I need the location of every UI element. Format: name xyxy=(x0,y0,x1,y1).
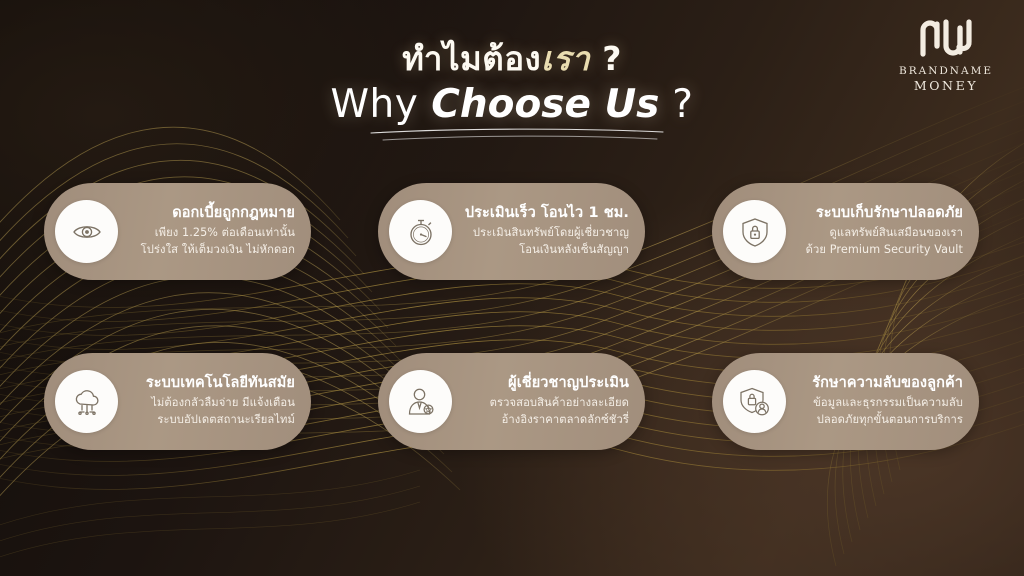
feature-card[interactable]: ประเมินเร็ว โอนไว 1 ชม. ประเมินสินทรัพย์… xyxy=(378,183,645,280)
feature-card[interactable]: ระบบเทคโนโลยีทันสมัย ไม่ต้องกลัวลืมจ่าย … xyxy=(44,353,311,450)
feature-card[interactable]: ดอกเบี้ยถูกกฎหมาย เพียง 1.25% ต่อเดือนเท… xyxy=(44,183,311,280)
heading-english: Why Choose Us ? xyxy=(331,82,694,129)
card-line: ตรวจสอบสินค้าอย่างละเอียด xyxy=(459,394,629,411)
heading-thai-suffix: ? xyxy=(590,39,622,78)
card-title: ผู้เชี่ยวชาญประเมิน xyxy=(459,374,629,394)
card-line: เพียง 1.25% ต่อเดือนเท่านั้น xyxy=(125,224,295,241)
feature-card[interactable]: ผู้เชี่ยวชาญประเมิน ตรวจสอบสินค้าอย่างละ… xyxy=(378,353,645,450)
card-line: โอนเงินหลังเซ็นสัญญา xyxy=(459,241,629,258)
card-title: ประเมินเร็ว โอนไว 1 ชม. xyxy=(459,204,629,224)
heading-en-why: Why xyxy=(331,82,432,127)
card-line: ไม่ต้องกลัวลืมจ่าย มีแจ้งเตือน xyxy=(125,394,295,411)
shield-lock-icon xyxy=(723,200,786,263)
heading-thai-prefix: ทำไมต้อง xyxy=(402,39,541,78)
card-title: ระบบเก็บรักษาปลอดภัย xyxy=(793,204,963,224)
card-line: โปร่งใส ให้เต็มวงเงิน ไม่หักดอก xyxy=(125,241,295,258)
heading-en-question: ? xyxy=(659,82,693,127)
card-title: รักษาความลับของลูกค้า xyxy=(793,374,963,394)
heading-underline xyxy=(367,127,667,143)
stopwatch-icon xyxy=(389,200,452,263)
card-line: ข้อมูลและธุรกรรมเป็นความลับ xyxy=(793,394,963,411)
page-title: ทำไมต้องเรา ? Why Choose Us ? xyxy=(0,38,1024,129)
cloud-sync-icon xyxy=(55,370,118,433)
expert-appraiser-icon xyxy=(389,370,452,433)
card-line: ประเมินสินทรัพย์โดยผู้เชี่ยวชาญ xyxy=(459,224,629,241)
card-text: ประเมินเร็ว โอนไว 1 ชม. ประเมินสินทรัพย์… xyxy=(452,204,645,258)
card-line: ปลอดภัยทุกขั้นตอนการบริการ xyxy=(793,411,963,428)
card-line: ระบบอัปเดตสถานะเรียลไทม์ xyxy=(125,411,295,428)
shield-user-privacy-icon xyxy=(723,370,786,433)
heading-en-choose-us: Choose Us xyxy=(431,82,659,127)
card-line: อ้างอิงราคาตลาดลักซ์ชัวรี่ xyxy=(459,411,629,428)
card-title: ดอกเบี้ยถูกกฎหมาย xyxy=(125,204,295,224)
card-text: ผู้เชี่ยวชาญประเมิน ตรวจสอบสินค้าอย่างละ… xyxy=(452,374,645,428)
card-title: ระบบเทคโนโลยีทันสมัย xyxy=(125,374,295,394)
eye-icon xyxy=(55,200,118,263)
feature-card[interactable]: ระบบเก็บรักษาปลอดภัย ดูแลทรัพย์สินเสมือน… xyxy=(712,183,979,280)
feature-card[interactable]: รักษาความลับของลูกค้า ข้อมูลและธุรกรรมเป… xyxy=(712,353,979,450)
card-text: ดอกเบี้ยถูกกฎหมาย เพียง 1.25% ต่อเดือนเท… xyxy=(118,204,311,258)
heading-thai: ทำไมต้องเรา ? xyxy=(0,38,1024,79)
card-text: ระบบเทคโนโลยีทันสมัย ไม่ต้องกลัวลืมจ่าย … xyxy=(118,374,311,428)
card-text: ระบบเก็บรักษาปลอดภัย ดูแลทรัพย์สินเสมือน… xyxy=(786,204,979,258)
slide-canvas: BRANDNAME MONEY ทำไมต้องเรา ? Why Choose… xyxy=(0,0,1024,576)
feature-card-grid: ดอกเบี้ยถูกกฎหมาย เพียง 1.25% ต่อเดือนเท… xyxy=(44,183,980,450)
heading-thai-highlight: เรา xyxy=(541,39,590,78)
card-line: ด้วย Premium Security Vault xyxy=(793,241,963,258)
card-text: รักษาความลับของลูกค้า ข้อมูลและธุรกรรมเป… xyxy=(786,374,979,428)
card-line: ดูแลทรัพย์สินเสมือนของเรา xyxy=(793,224,963,241)
